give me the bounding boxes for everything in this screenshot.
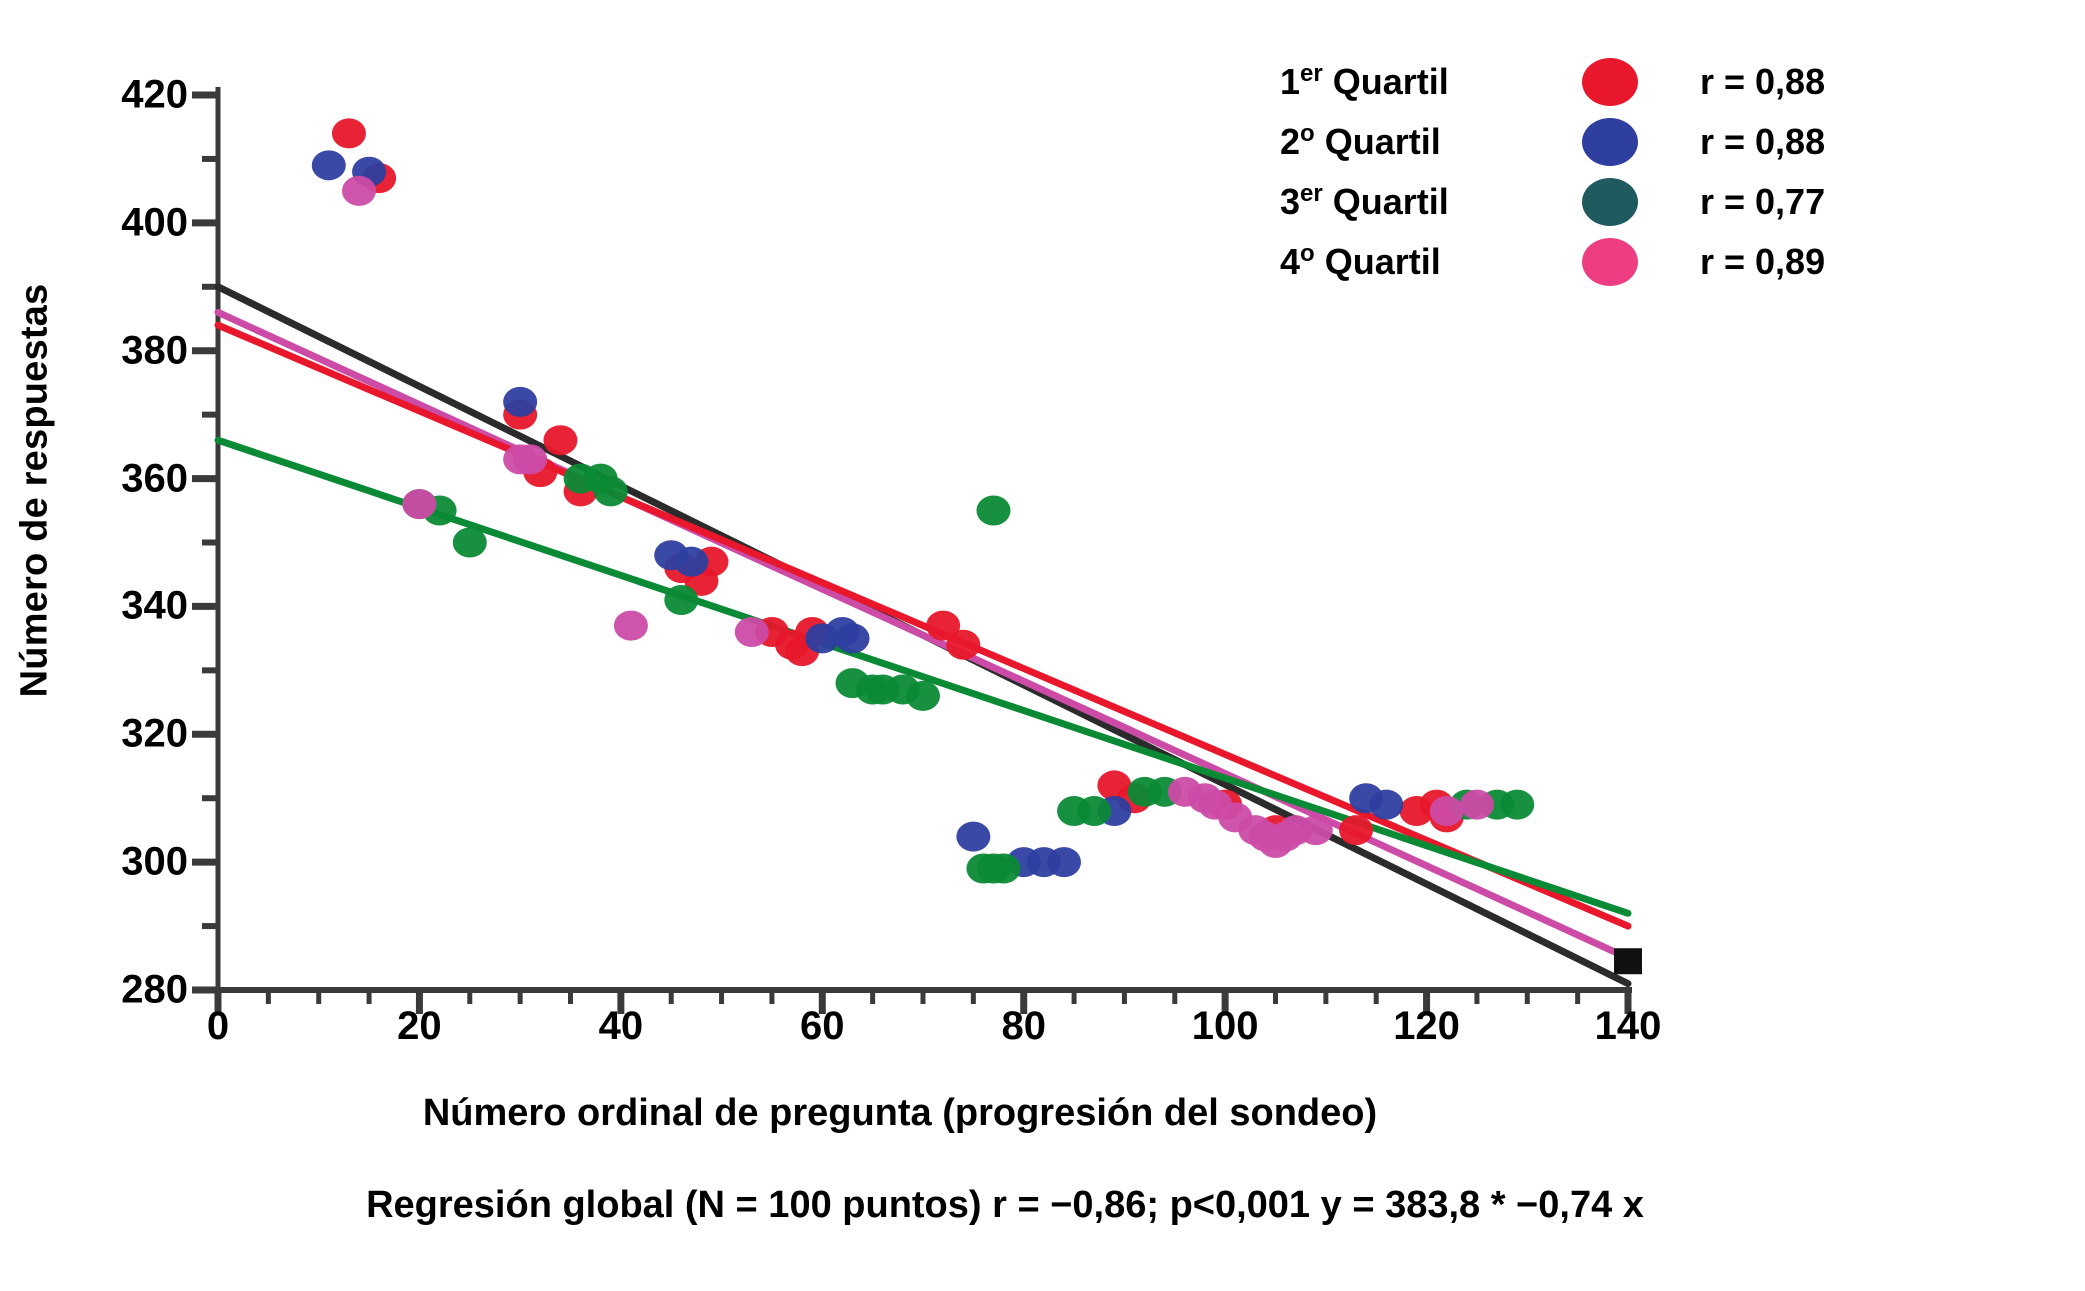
data-point xyxy=(956,822,990,852)
data-point xyxy=(1077,796,1111,826)
x-tick-label: 100 xyxy=(1160,1004,1290,1049)
data-point xyxy=(1500,790,1534,820)
x-tick-label: 40 xyxy=(556,1004,686,1049)
legend-row: 1er Quartilr = 0,88 xyxy=(1280,52,2020,112)
legend-quartile-label: 1er Quartil xyxy=(1280,61,1530,103)
data-point xyxy=(543,425,577,455)
y-tick-label: 420 xyxy=(58,73,188,118)
legend-color-dot-icon xyxy=(1582,118,1638,166)
data-point xyxy=(1460,790,1494,820)
data-point xyxy=(594,476,628,506)
data-point xyxy=(977,496,1011,526)
data-point xyxy=(987,854,1021,884)
regression-caption: Regresión global (N = 100 puntos) r = −0… xyxy=(0,1184,2010,1227)
legend-quartile-label: 2o Quartil xyxy=(1280,121,1530,163)
legend-quartile-number: 2 xyxy=(1280,121,1300,162)
data-point xyxy=(836,623,870,653)
data-point xyxy=(332,118,366,148)
legend-quartile-word: Quartil xyxy=(1315,121,1441,162)
y-tick-label: 360 xyxy=(58,456,188,501)
y-tick-label: 340 xyxy=(58,584,188,629)
data-point xyxy=(342,176,376,206)
data-point xyxy=(513,444,547,474)
x-tick-label: 0 xyxy=(153,1004,283,1049)
data-point xyxy=(503,387,537,417)
legend-correlation-value: r = 0,77 xyxy=(1690,181,1825,223)
legend-quartile-word: Quartil xyxy=(1323,61,1449,102)
y-tick-label: 300 xyxy=(58,840,188,885)
y-tick-label: 380 xyxy=(58,328,188,373)
legend-swatch-cell xyxy=(1530,58,1690,106)
legend-quartile-number: 4 xyxy=(1280,241,1300,282)
data-point xyxy=(614,611,648,641)
legend-quartile-ordinal-suffix: o xyxy=(1300,240,1315,267)
data-point xyxy=(1299,815,1333,845)
legend-swatch-cell xyxy=(1530,178,1690,226)
legend-quartile-label: 4o Quartil xyxy=(1280,241,1530,283)
marker-end-marker xyxy=(1614,948,1642,974)
data-point xyxy=(735,617,769,647)
x-tick-label: 20 xyxy=(354,1004,484,1049)
regression-lines xyxy=(218,287,1628,984)
legend-correlation-value: r = 0,88 xyxy=(1690,121,1825,163)
x-tick-label: 60 xyxy=(757,1004,887,1049)
data-point xyxy=(1047,847,1081,877)
data-point xyxy=(1339,815,1373,845)
legend-row: 4o Quartilr = 0,89 xyxy=(1280,232,2020,292)
legend-correlation-value: r = 0,88 xyxy=(1690,61,1825,103)
legend-quartile-word: Quartil xyxy=(1323,181,1449,222)
legend-color-dot-icon xyxy=(1582,178,1638,226)
y-tick-label: 320 xyxy=(58,712,188,757)
chart-figure: Número de respuestas 2803003203403603804… xyxy=(0,0,2085,1291)
x-tick-label: 120 xyxy=(1362,1004,1492,1049)
data-point xyxy=(312,150,346,180)
legend-row: 2o Quartilr = 0,88 xyxy=(1280,112,2020,172)
data-point xyxy=(664,585,698,615)
legend-color-dot-icon xyxy=(1582,58,1638,106)
legend-swatch-cell xyxy=(1530,118,1690,166)
regression-line-1er-red xyxy=(218,325,1628,926)
data-point xyxy=(1369,790,1403,820)
legend-row: 3er Quartilr = 0,77 xyxy=(1280,172,2020,232)
legend: 1er Quartilr = 0,882o Quartilr = 0,883er… xyxy=(1280,52,2020,292)
legend-color-dot-icon xyxy=(1582,238,1638,286)
data-point xyxy=(906,681,940,711)
legend-quartile-number: 1 xyxy=(1280,61,1300,102)
x-tick-label: 80 xyxy=(959,1004,1089,1049)
data-point xyxy=(946,630,980,660)
x-axis-title: Número ordinal de pregunta (progresión d… xyxy=(0,1092,1800,1135)
data-point xyxy=(402,489,436,519)
x-tick-label: 140 xyxy=(1563,1004,1693,1049)
data-point xyxy=(1430,796,1464,826)
special-marker-points xyxy=(1614,948,1642,974)
legend-swatch-cell xyxy=(1530,238,1690,286)
legend-quartile-ordinal-suffix: er xyxy=(1300,180,1323,207)
legend-quartile-ordinal-suffix: o xyxy=(1300,120,1315,147)
data-point xyxy=(674,547,708,577)
regression-line-4o-magenta xyxy=(218,312,1628,958)
legend-quartile-word: Quartil xyxy=(1315,241,1441,282)
legend-correlation-value: r = 0,89 xyxy=(1690,241,1825,283)
data-point xyxy=(453,528,487,558)
legend-quartile-number: 3 xyxy=(1280,181,1300,222)
legend-quartile-label: 3er Quartil xyxy=(1280,181,1530,223)
y-tick-label: 400 xyxy=(58,200,188,245)
legend-quartile-ordinal-suffix: er xyxy=(1300,60,1323,87)
